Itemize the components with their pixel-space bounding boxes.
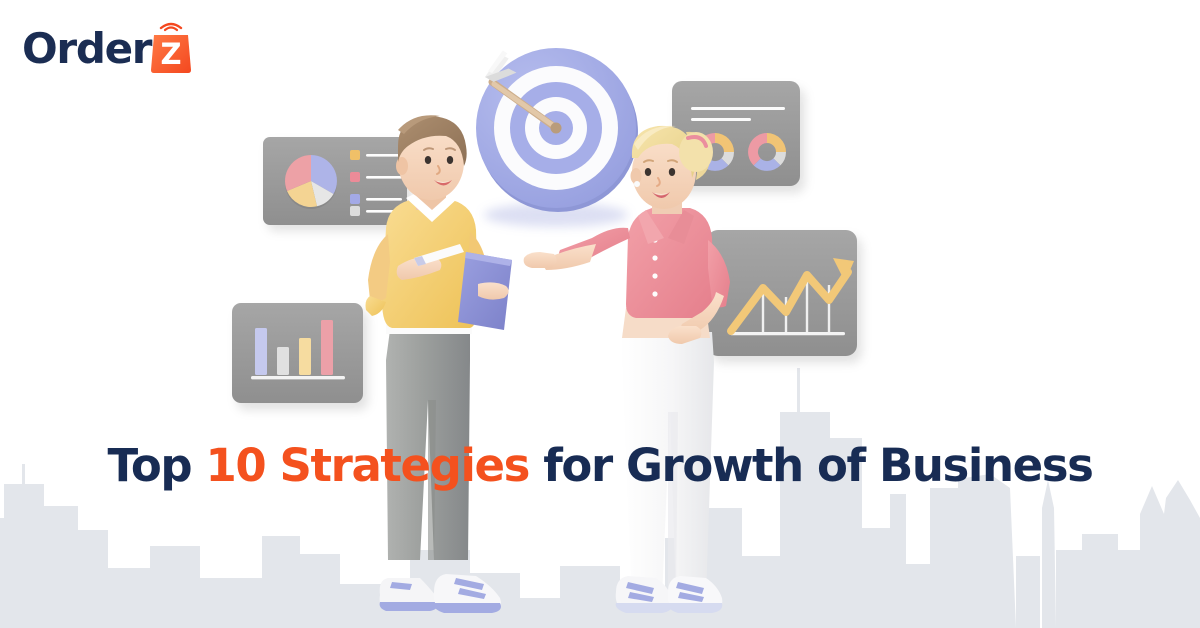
headline-part-navy-2: for Growth of Business xyxy=(529,439,1092,492)
banner-canvas: Order Z Top 10 Strategies for Growth of … xyxy=(0,0,1200,628)
headline-part-navy-1: Top xyxy=(108,439,206,492)
orderz-logo[interactable]: Order Z xyxy=(22,22,194,70)
female-right-shoe xyxy=(668,576,723,613)
logo-bag-letter: Z xyxy=(161,37,182,71)
female-left-shoe xyxy=(616,576,673,613)
male-left-shoe xyxy=(380,578,438,611)
headline-part-accent: 10 Strategies xyxy=(205,439,529,492)
shopping-bag-icon: Z xyxy=(148,22,194,74)
bar-chart-panel xyxy=(232,303,368,410)
page-title: Top 10 Strategies for Growth of Business xyxy=(0,441,1200,491)
growth-chart-panel xyxy=(707,230,862,363)
business-growth-illustration xyxy=(0,0,1200,628)
logo-wordmark: Order xyxy=(22,28,151,70)
dartboard-target xyxy=(476,48,638,227)
male-right-shoe xyxy=(434,574,501,613)
